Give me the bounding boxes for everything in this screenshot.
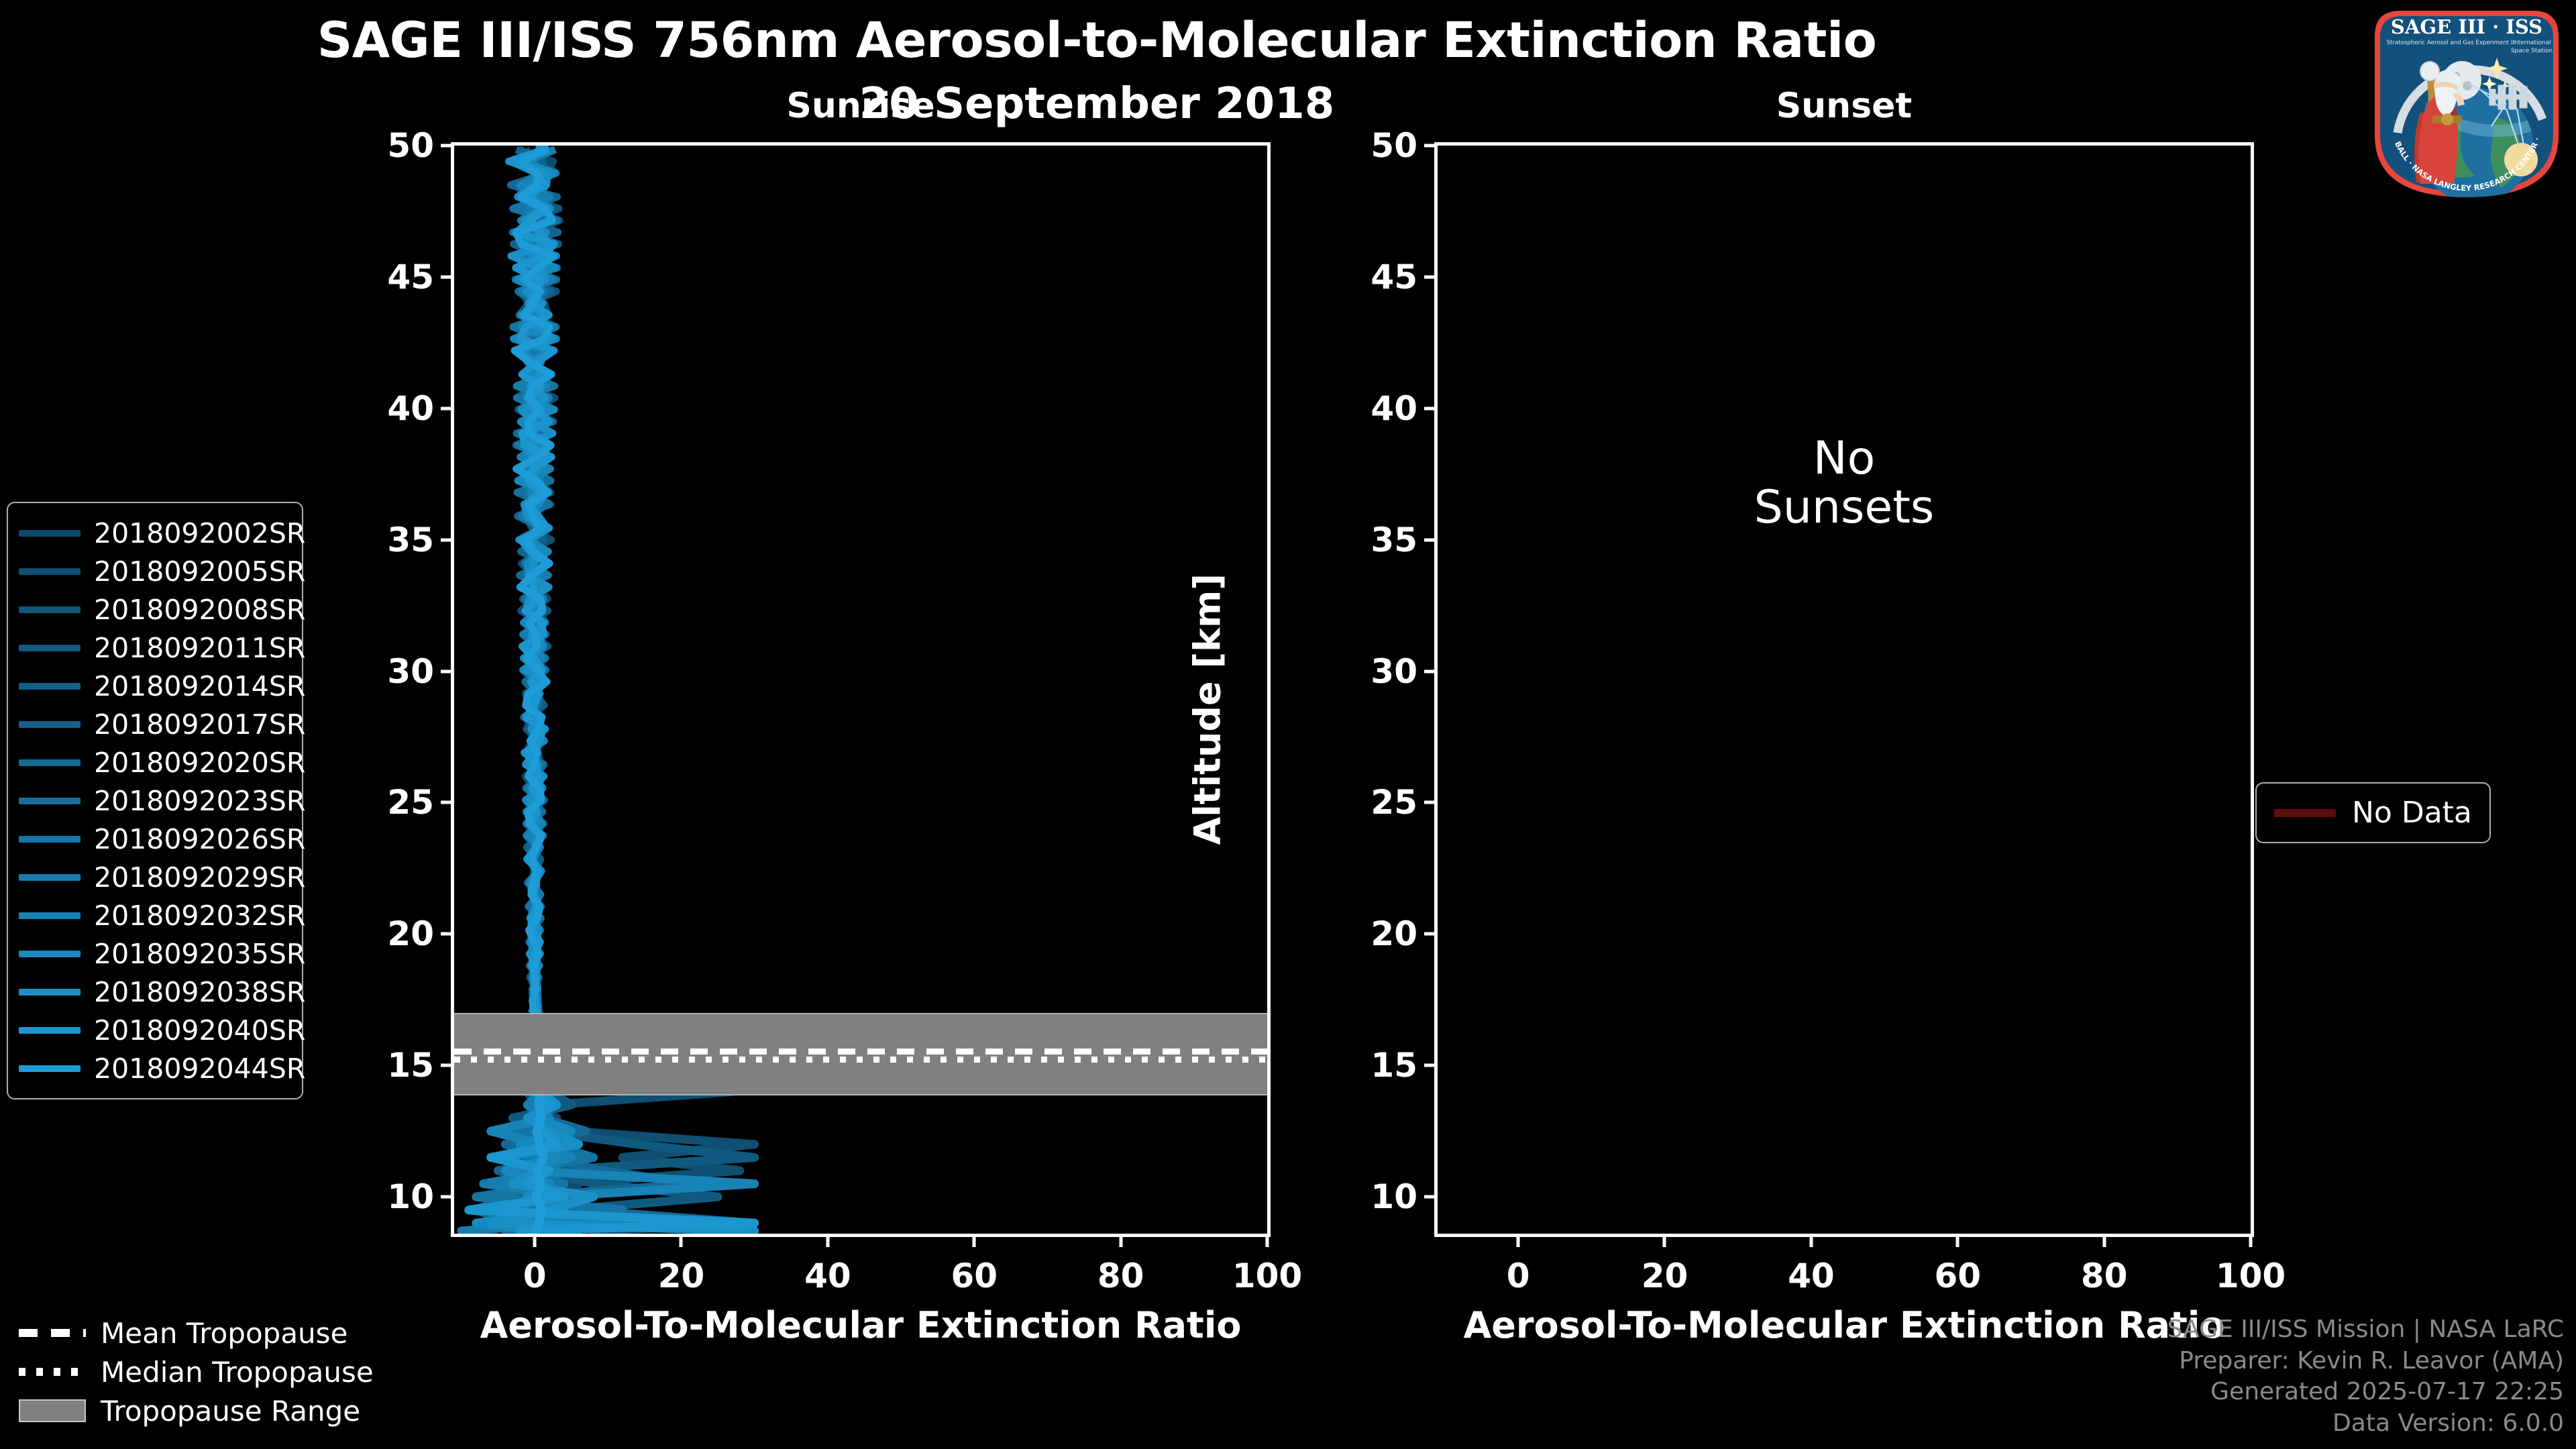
x-tick-label: 0 (1507, 1256, 1530, 1295)
x-tick-label: 100 (2216, 1256, 2286, 1295)
legend-item-label: 2018092035SR (80, 938, 305, 970)
y-tick-mark (1424, 407, 1438, 410)
legend-line-swatch (19, 836, 80, 843)
y-tick-label: 25 (1371, 783, 1417, 822)
legend-item-label: 2018092017SR (80, 708, 305, 741)
x-tick-label: 80 (1097, 1256, 1144, 1295)
legend-item[interactable]: 2018092023SR (19, 782, 288, 820)
legend-line-swatch (19, 912, 80, 919)
tropopause-key-mean-row: Mean Tropopause (19, 1313, 394, 1352)
x-tick-mark (973, 1234, 976, 1247)
logo-iss-line1: International (2512, 40, 2551, 46)
legend-item[interactable]: 2018092035SR (19, 934, 288, 973)
median-tropopause-line (454, 1057, 1267, 1063)
y-tick-label: 35 (1371, 521, 1417, 559)
legend-item-label: 2018092026SR (80, 823, 305, 855)
legend-item-label: 2018092032SR (80, 900, 305, 932)
x-tick-label: 100 (1232, 1256, 1302, 1295)
x-tick-mark (2249, 1234, 2253, 1247)
legend-line-swatch (19, 606, 80, 613)
y-tick-label: 50 (1371, 126, 1417, 165)
legend-line-swatch (19, 798, 80, 804)
y-tick-mark (441, 538, 454, 541)
tropopause-key-median-row: Median Tropopause (19, 1352, 394, 1391)
legend-item[interactable]: 2018092044SR (19, 1049, 288, 1087)
legend-line-swatch (19, 1027, 80, 1034)
legend-line-swatch (19, 951, 80, 957)
legend-line-swatch (19, 645, 80, 651)
x-tick-label: 80 (2081, 1256, 2128, 1295)
y-tick-label: 15 (1371, 1046, 1417, 1085)
y-tick-label: 35 (387, 521, 434, 559)
mean-tropopause-label: Mean Tropopause (86, 1317, 347, 1350)
sunset-x-axis-label: Aerosol-To-Molecular Extinction Ratio (1434, 1304, 2254, 1346)
x-tick-mark (533, 1234, 537, 1247)
legend-item-label: 2018092040SR (80, 1014, 305, 1046)
y-tick-mark (441, 669, 454, 673)
tropopause-key: Mean Tropopause Median Tropopause Tropop… (19, 1313, 394, 1430)
credits-data-version: Data Version: 6.0.0 (2167, 1408, 2564, 1440)
mean-tropopause-line (454, 1049, 1267, 1055)
y-tick-label: 40 (387, 389, 434, 428)
y-tick-mark (441, 1195, 454, 1199)
y-tick-mark (441, 407, 454, 410)
mean-tropopause-swatch (19, 1329, 86, 1337)
y-tick-mark (441, 144, 454, 148)
y-tick-label: 20 (1371, 914, 1417, 953)
x-tick-label: 40 (1788, 1256, 1835, 1295)
legend-item-label: 2018092038SR (80, 976, 305, 1008)
x-tick-label: 40 (804, 1256, 851, 1295)
sunset-plot-panel[interactable]: No Sunsets 101520253035404550 0204060801… (1434, 142, 2254, 1237)
no-data-legend-label: No Data (2336, 796, 2472, 830)
y-tick-mark (1424, 1064, 1438, 1067)
y-tick-label: 10 (387, 1177, 434, 1216)
y-tick-mark (441, 275, 454, 278)
x-tick-mark (1809, 1234, 1813, 1247)
legend-item-label: 2018092002SR (80, 517, 305, 549)
x-tick-label: 20 (658, 1256, 705, 1295)
credits-preparer: Preparer: Kevin R. Leavor (AMA) (2167, 1346, 2564, 1377)
x-tick-label: 60 (951, 1256, 998, 1295)
x-tick-mark (1119, 1234, 1122, 1247)
legend-item-label: 2018092008SR (80, 594, 305, 626)
legend-item[interactable]: 2018092020SR (19, 743, 288, 782)
x-tick-mark (1266, 1234, 1269, 1247)
legend-item[interactable]: 2018092038SR (19, 973, 288, 1011)
y-tick-label: 15 (387, 1046, 434, 1085)
y-tick-label: 45 (387, 258, 434, 297)
no-data-line-swatch (2274, 809, 2336, 817)
legend-line-swatch (19, 989, 80, 996)
legend-item-label: 2018092023SR (80, 785, 305, 817)
legend-item-label: 2018092029SR (80, 861, 305, 894)
legend-item-label: 2018092005SR (80, 555, 305, 588)
legend-line-swatch (19, 759, 80, 766)
y-tick-mark (1424, 275, 1438, 278)
y-tick-label: 30 (1371, 652, 1417, 691)
legend-item[interactable]: 2018092026SR (19, 820, 288, 858)
credits-block: SAGE III/ISS Mission | NASA LaRC Prepare… (2167, 1314, 2564, 1440)
legend-item[interactable]: 2018092011SR (19, 629, 288, 667)
legend-item[interactable]: 2018092029SR (19, 858, 288, 896)
logo-subtitle: Stratospheric Aerosol and Gas Experiment… (2387, 40, 2516, 46)
legend-item-label: 2018092020SR (80, 747, 305, 779)
y-tick-mark (1424, 801, 1438, 804)
legend-item-label: 2018092011SR (80, 632, 305, 664)
page-title: SAGE III/ISS 756nm Aerosol-to-Molecular … (0, 12, 2194, 69)
legend-item[interactable]: 2018092002SR (19, 514, 288, 552)
y-tick-label: 50 (387, 126, 434, 165)
sunset-plot-area: No Sunsets (1438, 146, 2251, 1234)
legend-item[interactable]: 2018092014SR (19, 667, 288, 705)
tropopause-range-swatch (19, 1399, 86, 1422)
event-series-legend[interactable]: 2018092002SR2018092005SR2018092008SR2018… (7, 502, 303, 1099)
legend-line-swatch (19, 1065, 80, 1072)
panel-label-sunrise: Sunrise (451, 86, 1271, 126)
panel-label-sunset: Sunset (1434, 86, 2254, 126)
legend-line-swatch (19, 721, 80, 728)
legend-line-swatch (19, 874, 80, 881)
credits-mission: SAGE III/ISS Mission | NASA LaRC (2167, 1314, 2564, 1346)
x-tick-mark (826, 1234, 829, 1247)
median-tropopause-label: Median Tropopause (86, 1356, 374, 1389)
legend-item[interactable]: 2018092032SR (19, 896, 288, 934)
x-tick-mark (2102, 1234, 2106, 1247)
x-tick-mark (680, 1234, 683, 1247)
no-data-legend[interactable]: No Data (2255, 782, 2491, 843)
y-tick-label: 40 (1371, 389, 1417, 428)
legend-item[interactable]: 2018092017SR (19, 705, 288, 743)
sunrise-plot-panel[interactable]: 101520253035404550 020406080100 (451, 142, 1271, 1237)
y-tick-mark (1424, 538, 1438, 541)
legend-line-swatch (19, 530, 80, 537)
sunrise-plot-area (454, 146, 1267, 1234)
tropopause-key-range-row: Tropopause Range (19, 1391, 394, 1430)
x-tick-label: 60 (1934, 1256, 1981, 1295)
y-tick-mark (1424, 932, 1438, 936)
y-tick-mark (1424, 144, 1438, 148)
legend-line-swatch (19, 683, 80, 690)
x-tick-label: 20 (1642, 1256, 1688, 1295)
legend-item[interactable]: 2018092040SR (19, 1011, 288, 1049)
x-tick-label: 0 (523, 1256, 547, 1295)
no-sunsets-notice: No Sunsets (1438, 434, 2251, 533)
y-tick-mark (441, 801, 454, 804)
legend-item-label: 2018092044SR (80, 1053, 305, 1085)
y-tick-label: 30 (387, 652, 434, 691)
sage-iii-iss-mission-patch-logo: SAGE III · ISS Stratospheric Aerosol and… (2363, 1, 2571, 203)
logo-iss-line2: Space Station (2511, 48, 2553, 54)
legend-item[interactable]: 2018092008SR (19, 590, 288, 629)
legend-line-swatch (19, 568, 80, 575)
sunset-y-axis-label: Altitude [km] (1187, 577, 1229, 845)
y-tick-mark (1424, 669, 1438, 673)
y-tick-label: 45 (1371, 258, 1417, 297)
sunrise-x-axis-label: Aerosol-To-Molecular Extinction Ratio (451, 1304, 1271, 1346)
y-tick-mark (441, 1064, 454, 1067)
y-tick-label: 20 (387, 914, 434, 953)
x-tick-mark (1956, 1234, 1960, 1247)
logo-title: SAGE III · ISS (2391, 15, 2542, 38)
tropopause-range-label: Tropopause Range (86, 1395, 360, 1428)
y-tick-mark (1424, 1195, 1438, 1199)
x-tick-mark (1663, 1234, 1666, 1247)
legend-item-label: 2018092014SR (80, 670, 305, 702)
y-tick-label: 10 (1371, 1177, 1417, 1216)
credits-generated: Generated 2025-07-17 22:25 (2167, 1377, 2564, 1408)
legend-item[interactable]: 2018092005SR (19, 552, 288, 590)
x-tick-mark (1517, 1234, 1520, 1247)
y-tick-label: 25 (387, 783, 434, 822)
median-tropopause-swatch (19, 1368, 86, 1376)
y-tick-mark (441, 932, 454, 936)
